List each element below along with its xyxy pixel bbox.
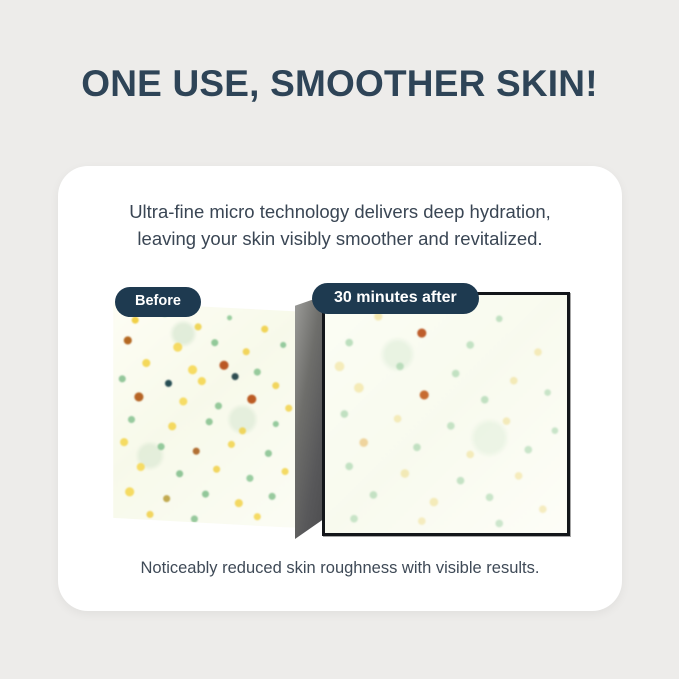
result-caption: Noticeably reduced skin roughness with v… xyxy=(80,559,600,578)
intro-text: Ultra-fine micro technology delivers dee… xyxy=(82,199,598,253)
result-card: Ultra-fine micro technology delivers dee… xyxy=(58,166,622,611)
after-skin-texture xyxy=(325,295,567,533)
intro-line-2: leaving your skin visibly smoother and r… xyxy=(82,226,598,253)
before-after-comparison: Before 30 minutes after xyxy=(58,292,622,544)
after-image-panel xyxy=(322,292,570,536)
page-title: ONE USE, SMOOTHER SKIN! xyxy=(0,64,679,105)
badge-after: 30 minutes after xyxy=(312,283,479,314)
before-image-panel xyxy=(113,302,298,528)
intro-line-1: Ultra-fine micro technology delivers dee… xyxy=(82,199,598,226)
badge-before: Before xyxy=(115,287,201,317)
before-skin-texture xyxy=(113,302,298,528)
depth-side-face xyxy=(295,296,323,539)
